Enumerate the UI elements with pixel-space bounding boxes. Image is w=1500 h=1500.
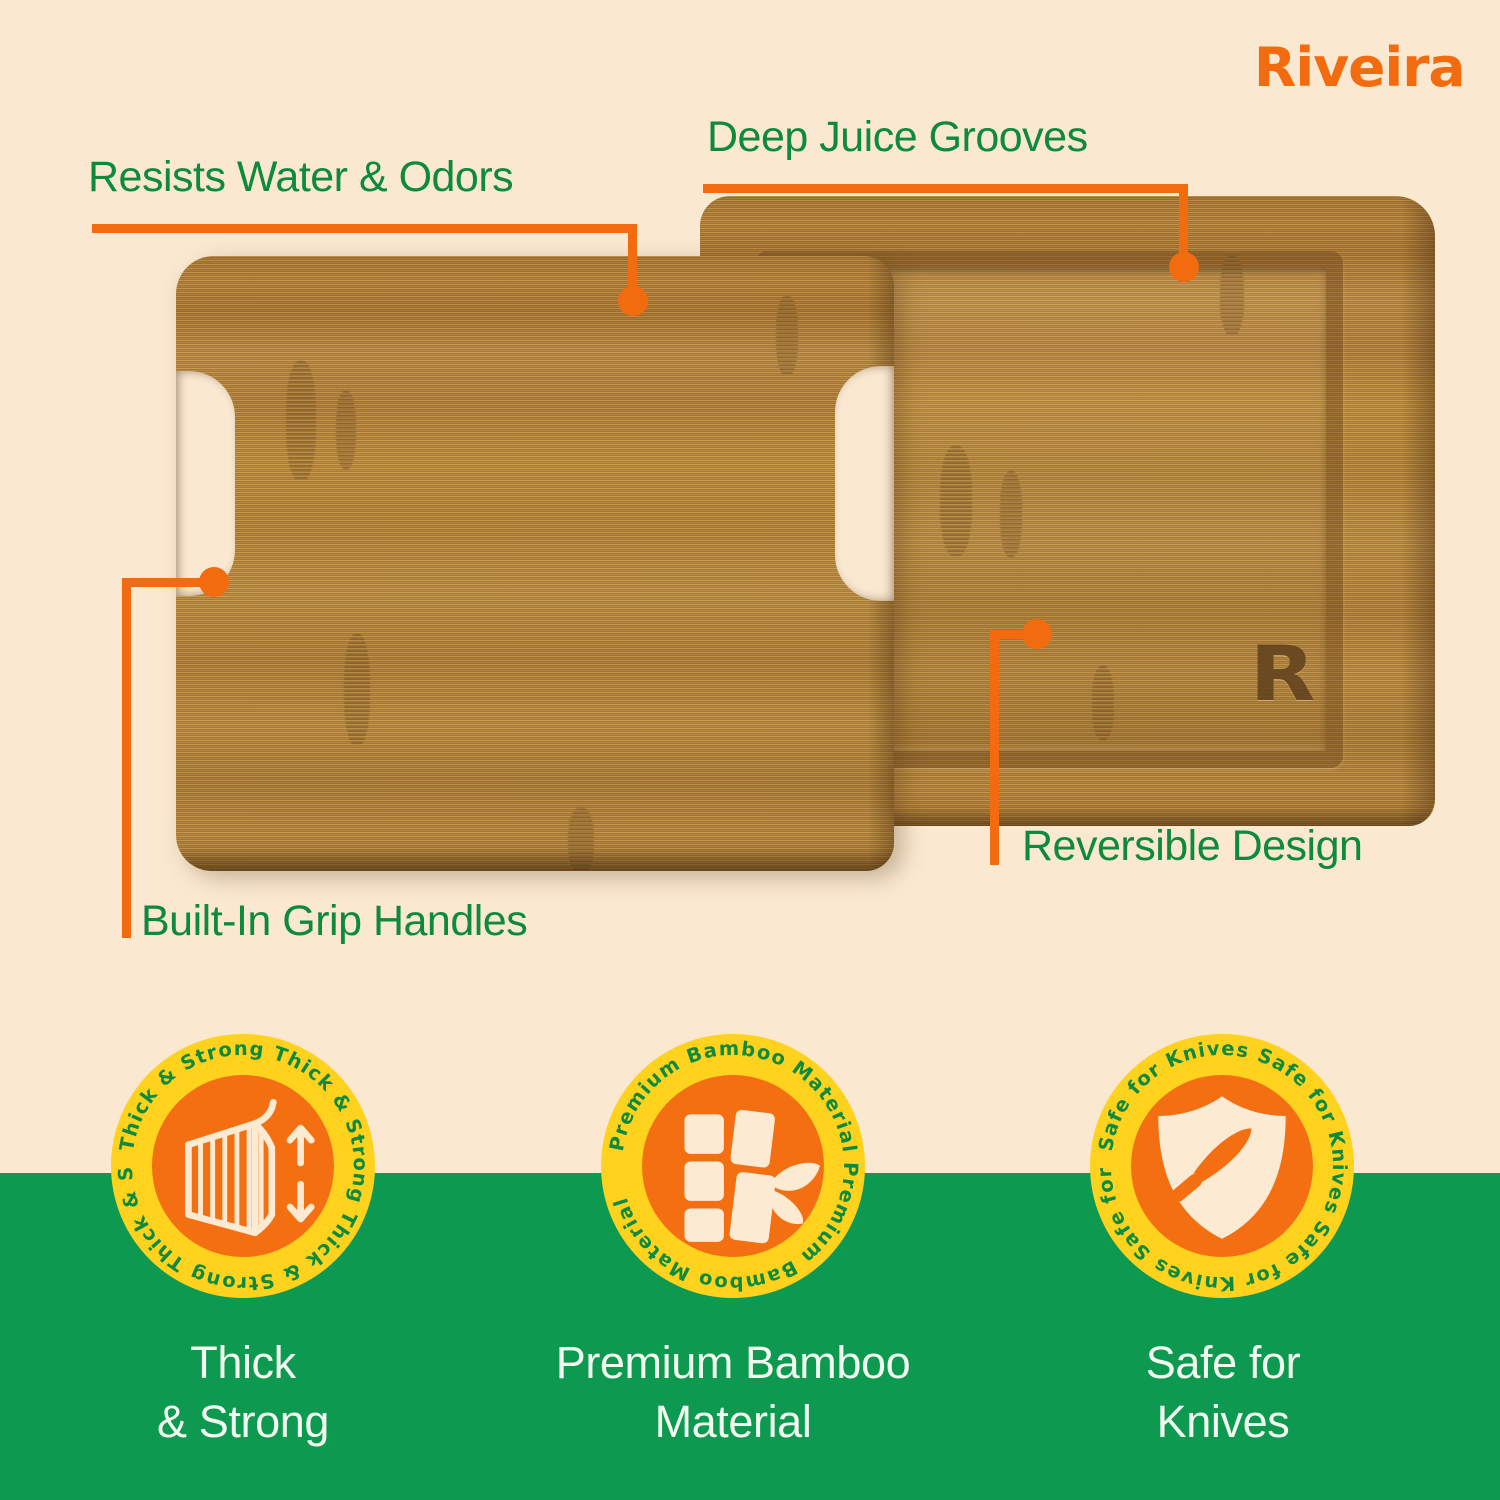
leader-line-juice-horizontal <box>703 184 1188 193</box>
bamboo-node-mark <box>1000 471 1022 557</box>
caption-line-1: Thick <box>63 1333 423 1392</box>
leader-line-water-vertical <box>628 224 637 292</box>
badge-thick-strong: Thick & Strong Thick & Strong Thick & St… <box>111 1034 375 1298</box>
bamboo-node-mark <box>776 296 798 376</box>
bamboo-node-mark <box>1092 666 1114 740</box>
bamboo-node-mark <box>286 361 316 481</box>
leader-line-juice-vertical <box>1179 184 1188 257</box>
cutting-board-flat-side <box>176 256 894 871</box>
caption-line-1: Premium Bamboo <box>513 1333 953 1392</box>
callout-resists-water-odors: Resists Water & Odors <box>88 153 513 202</box>
callout-built-in-grip-handles: Built-In Grip Handles <box>141 897 527 946</box>
bamboo-node-mark <box>336 391 356 469</box>
bamboo-node-mark <box>1220 256 1244 336</box>
caption-line-2: Knives <box>1043 1392 1403 1451</box>
grip-handle-notch-left <box>176 371 235 596</box>
board-right-edge <box>1401 196 1435 826</box>
badge-premium-bamboo-material: Premium Bamboo Material Premium Bamboo M… <box>601 1034 865 1298</box>
bamboo-node-mark <box>344 634 370 746</box>
bamboo-stalk-icon <box>642 1075 824 1257</box>
callout-deep-juice-grooves: Deep Juice Grooves <box>707 113 1088 162</box>
callout-dot-grip <box>199 567 229 597</box>
board-thickness-icon <box>152 1075 334 1257</box>
badge-caption-thick-strong: Thick & Strong <box>63 1333 423 1452</box>
badge-caption-safe-knives: Safe for Knives <box>1043 1333 1403 1452</box>
product-feature-graphic: Riveira R Resists Water & Odors Deep Jui… <box>0 0 1500 1500</box>
callout-dot-reversible <box>1022 619 1052 649</box>
callout-dot-water <box>618 286 648 316</box>
callout-dot-juice <box>1169 252 1199 282</box>
badge-caption-premium-bamboo: Premium Bamboo Material <box>513 1333 953 1452</box>
bamboo-node-mark <box>940 446 972 556</box>
leader-line-water-horizontal <box>92 224 637 233</box>
callout-reversible-design: Reversible Design <box>1022 822 1362 871</box>
grip-handle-notch-right <box>835 366 894 601</box>
caption-line-1: Safe for <box>1043 1333 1403 1392</box>
leader-line-grip-vertical <box>122 578 131 938</box>
leader-line-reversible-vertical <box>990 630 999 865</box>
caption-line-2: & Strong <box>63 1392 423 1451</box>
brand-logo: Riveira <box>1253 36 1464 99</box>
board-bottom-edge <box>176 849 894 871</box>
shield-knife-icon <box>1131 1075 1313 1257</box>
engraved-brand-mark: R <box>1250 636 1311 712</box>
badge-safe-for-knives: Safe for Knives Safe for Knives Safe for… <box>1090 1034 1354 1298</box>
caption-line-2: Material <box>513 1392 953 1451</box>
